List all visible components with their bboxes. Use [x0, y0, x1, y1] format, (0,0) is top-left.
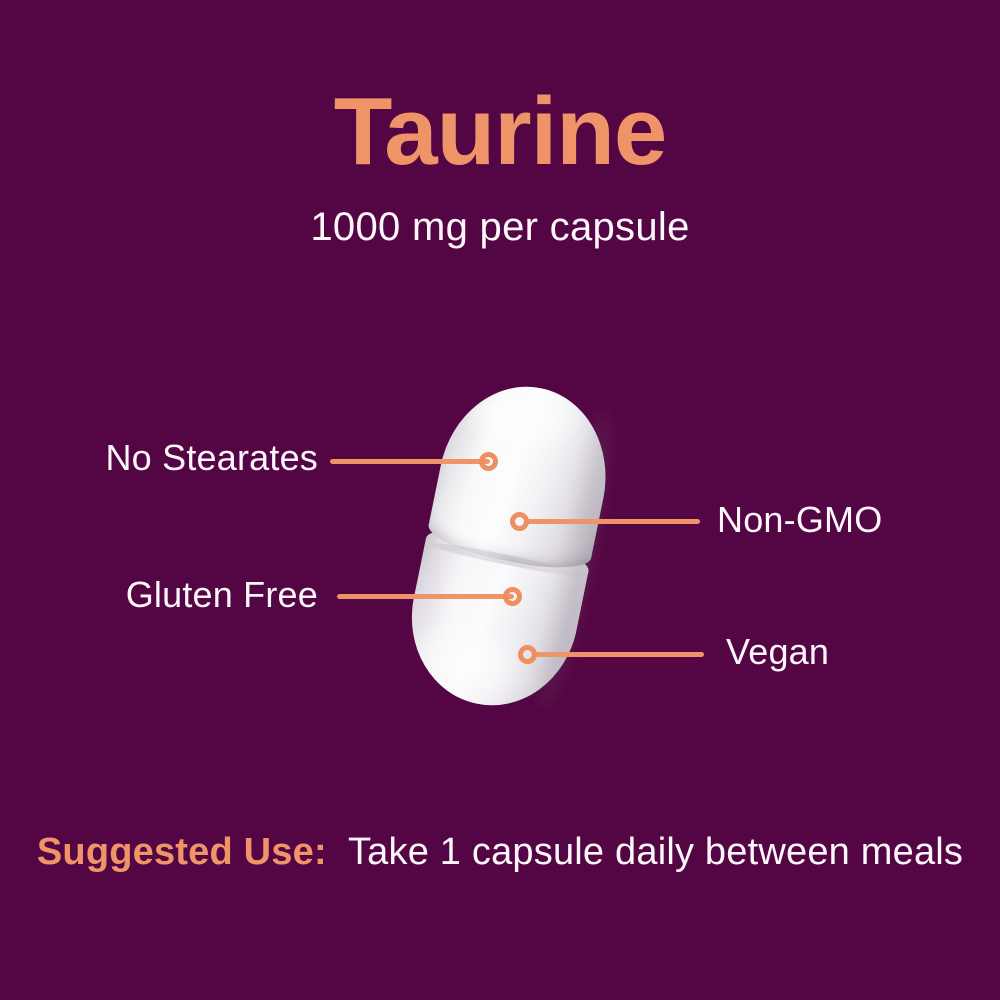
suggested-use-text: Take 1 capsule daily between meals [348, 831, 963, 873]
callout-label-non-gmo: Non-GMO [717, 502, 882, 538]
capsule-graphic [396, 372, 623, 721]
product-dosage: 1000 mg per capsule [0, 205, 1000, 249]
callout-ring-icon [518, 645, 537, 664]
callout-line-vegan [532, 652, 704, 657]
callout-ring-icon [510, 512, 529, 531]
capsule-image [404, 385, 614, 707]
callout-line-no-stearates [330, 459, 490, 464]
callout-label-vegan: Vegan [726, 634, 829, 670]
callout-line-gluten-free [337, 594, 514, 599]
callout-label-gluten-free: Gluten Free [126, 577, 318, 613]
suggested-use-label: Suggested Use: [37, 831, 327, 873]
suggested-use: Suggested Use: Take 1 capsule daily betw… [0, 826, 1000, 880]
page-title: Taurine [0, 84, 1000, 180]
callout-line-non-gmo [524, 519, 700, 524]
callout-ring-icon [479, 452, 498, 471]
callout-ring-icon [503, 587, 522, 606]
callout-label-no-stearates: No Stearates [105, 440, 318, 476]
product-infographic: Taurine 1000 mg per capsule No Stearates… [0, 0, 1000, 1000]
